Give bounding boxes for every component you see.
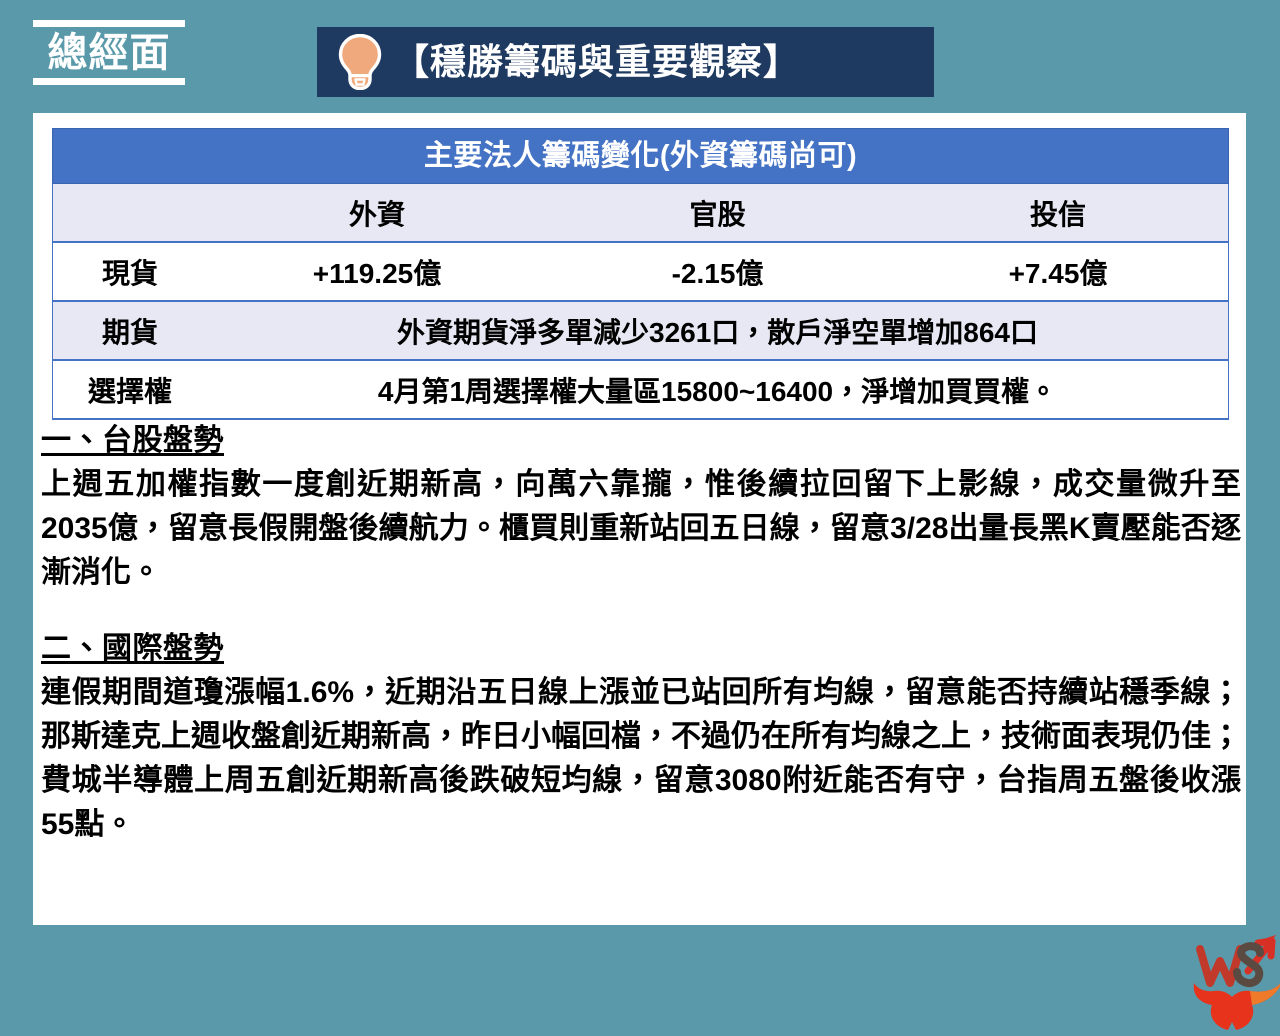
slide-header: 總經面 【穩勝籌碼與重要觀察】 bbox=[0, 0, 1280, 112]
column-header-government: 官股 bbox=[547, 184, 888, 243]
section-text-international: 連假期間道瓊漲幅1.6%，近期沿五日線上漲並已站回所有均線，留意能否持續站穩季線… bbox=[41, 671, 1241, 847]
commentary-section-international: 二、國際盤勢 連假期間道瓊漲幅1.6%，近期沿五日線上漲並已站回所有均線，留意能… bbox=[41, 629, 1241, 847]
section-tag-rule-bottom bbox=[33, 78, 185, 85]
lightbulb-icon bbox=[337, 34, 383, 90]
cell-spot-foreign: +119.25億 bbox=[207, 243, 547, 302]
cell-options-summary: 4月第1周選擇權大量區15800~16400，淨增加買買權。 bbox=[207, 361, 1229, 420]
table-row-futures: 期貨 外資期貨淨多單減少3261口，散戶淨空單增加864口 bbox=[52, 302, 1229, 361]
commentary-body: 一、台股盤勢 上週五加權指數一度創近期新高，向萬六靠攏，惟後續拉回留下上影線，成… bbox=[41, 421, 1241, 847]
title-banner: 【穩勝籌碼與重要觀察】 bbox=[317, 27, 934, 97]
row-label-spot: 現貨 bbox=[52, 243, 207, 302]
column-header-foreign: 外資 bbox=[207, 184, 547, 243]
ws-bull-logo bbox=[1188, 931, 1280, 1036]
section-heading-international: 二、國際盤勢 bbox=[41, 629, 224, 669]
institutional-chips-table: 主要法人籌碼變化(外資籌碼尚可) 外資 官股 投信 現貨 +119.25億 -2… bbox=[52, 128, 1229, 420]
content-panel: 主要法人籌碼變化(外資籌碼尚可) 外資 官股 投信 現貨 +119.25億 -2… bbox=[33, 113, 1246, 925]
slide-root: 總經面 【穩勝籌碼與重要觀察】 bbox=[0, 0, 1280, 961]
section-tag-label: 總經面 bbox=[33, 30, 185, 76]
table-title: 主要法人籌碼變化(外資籌碼尚可) bbox=[52, 128, 1229, 184]
table-column-header-row: 外資 官股 投信 bbox=[52, 184, 1229, 243]
cell-spot-investment-trust: +7.45億 bbox=[888, 243, 1229, 302]
table-row-spot: 現貨 +119.25億 -2.15億 +7.45億 bbox=[52, 243, 1229, 302]
banner-title: 【穩勝籌碼與重要觀察】 bbox=[393, 41, 800, 83]
column-header-investment-trust: 投信 bbox=[888, 184, 1229, 243]
table-title-row: 主要法人籌碼變化(外資籌碼尚可) bbox=[52, 128, 1229, 184]
row-label-futures: 期貨 bbox=[52, 302, 207, 361]
commentary-section-taiwan: 一、台股盤勢 上週五加權指數一度創近期新高，向萬六靠攏，惟後續拉回留下上影線，成… bbox=[41, 421, 1241, 595]
section-text-taiwan: 上週五加權指數一度創近期新高，向萬六靠攏，惟後續拉回留下上影線，成交量微升至20… bbox=[41, 463, 1241, 595]
column-header-blank bbox=[52, 184, 207, 243]
section-heading-taiwan: 一、台股盤勢 bbox=[41, 421, 224, 461]
section-tag-rule-top bbox=[33, 20, 185, 27]
section-spacer bbox=[41, 595, 1241, 629]
row-label-options: 選擇權 bbox=[52, 361, 207, 420]
section-tag: 總經面 bbox=[33, 20, 185, 85]
cell-futures-summary: 外資期貨淨多單減少3261口，散戶淨空單增加864口 bbox=[207, 302, 1229, 361]
table-row-options: 選擇權 4月第1周選擇權大量區15800~16400，淨增加買買權。 bbox=[52, 361, 1229, 420]
cell-spot-government: -2.15億 bbox=[547, 243, 888, 302]
